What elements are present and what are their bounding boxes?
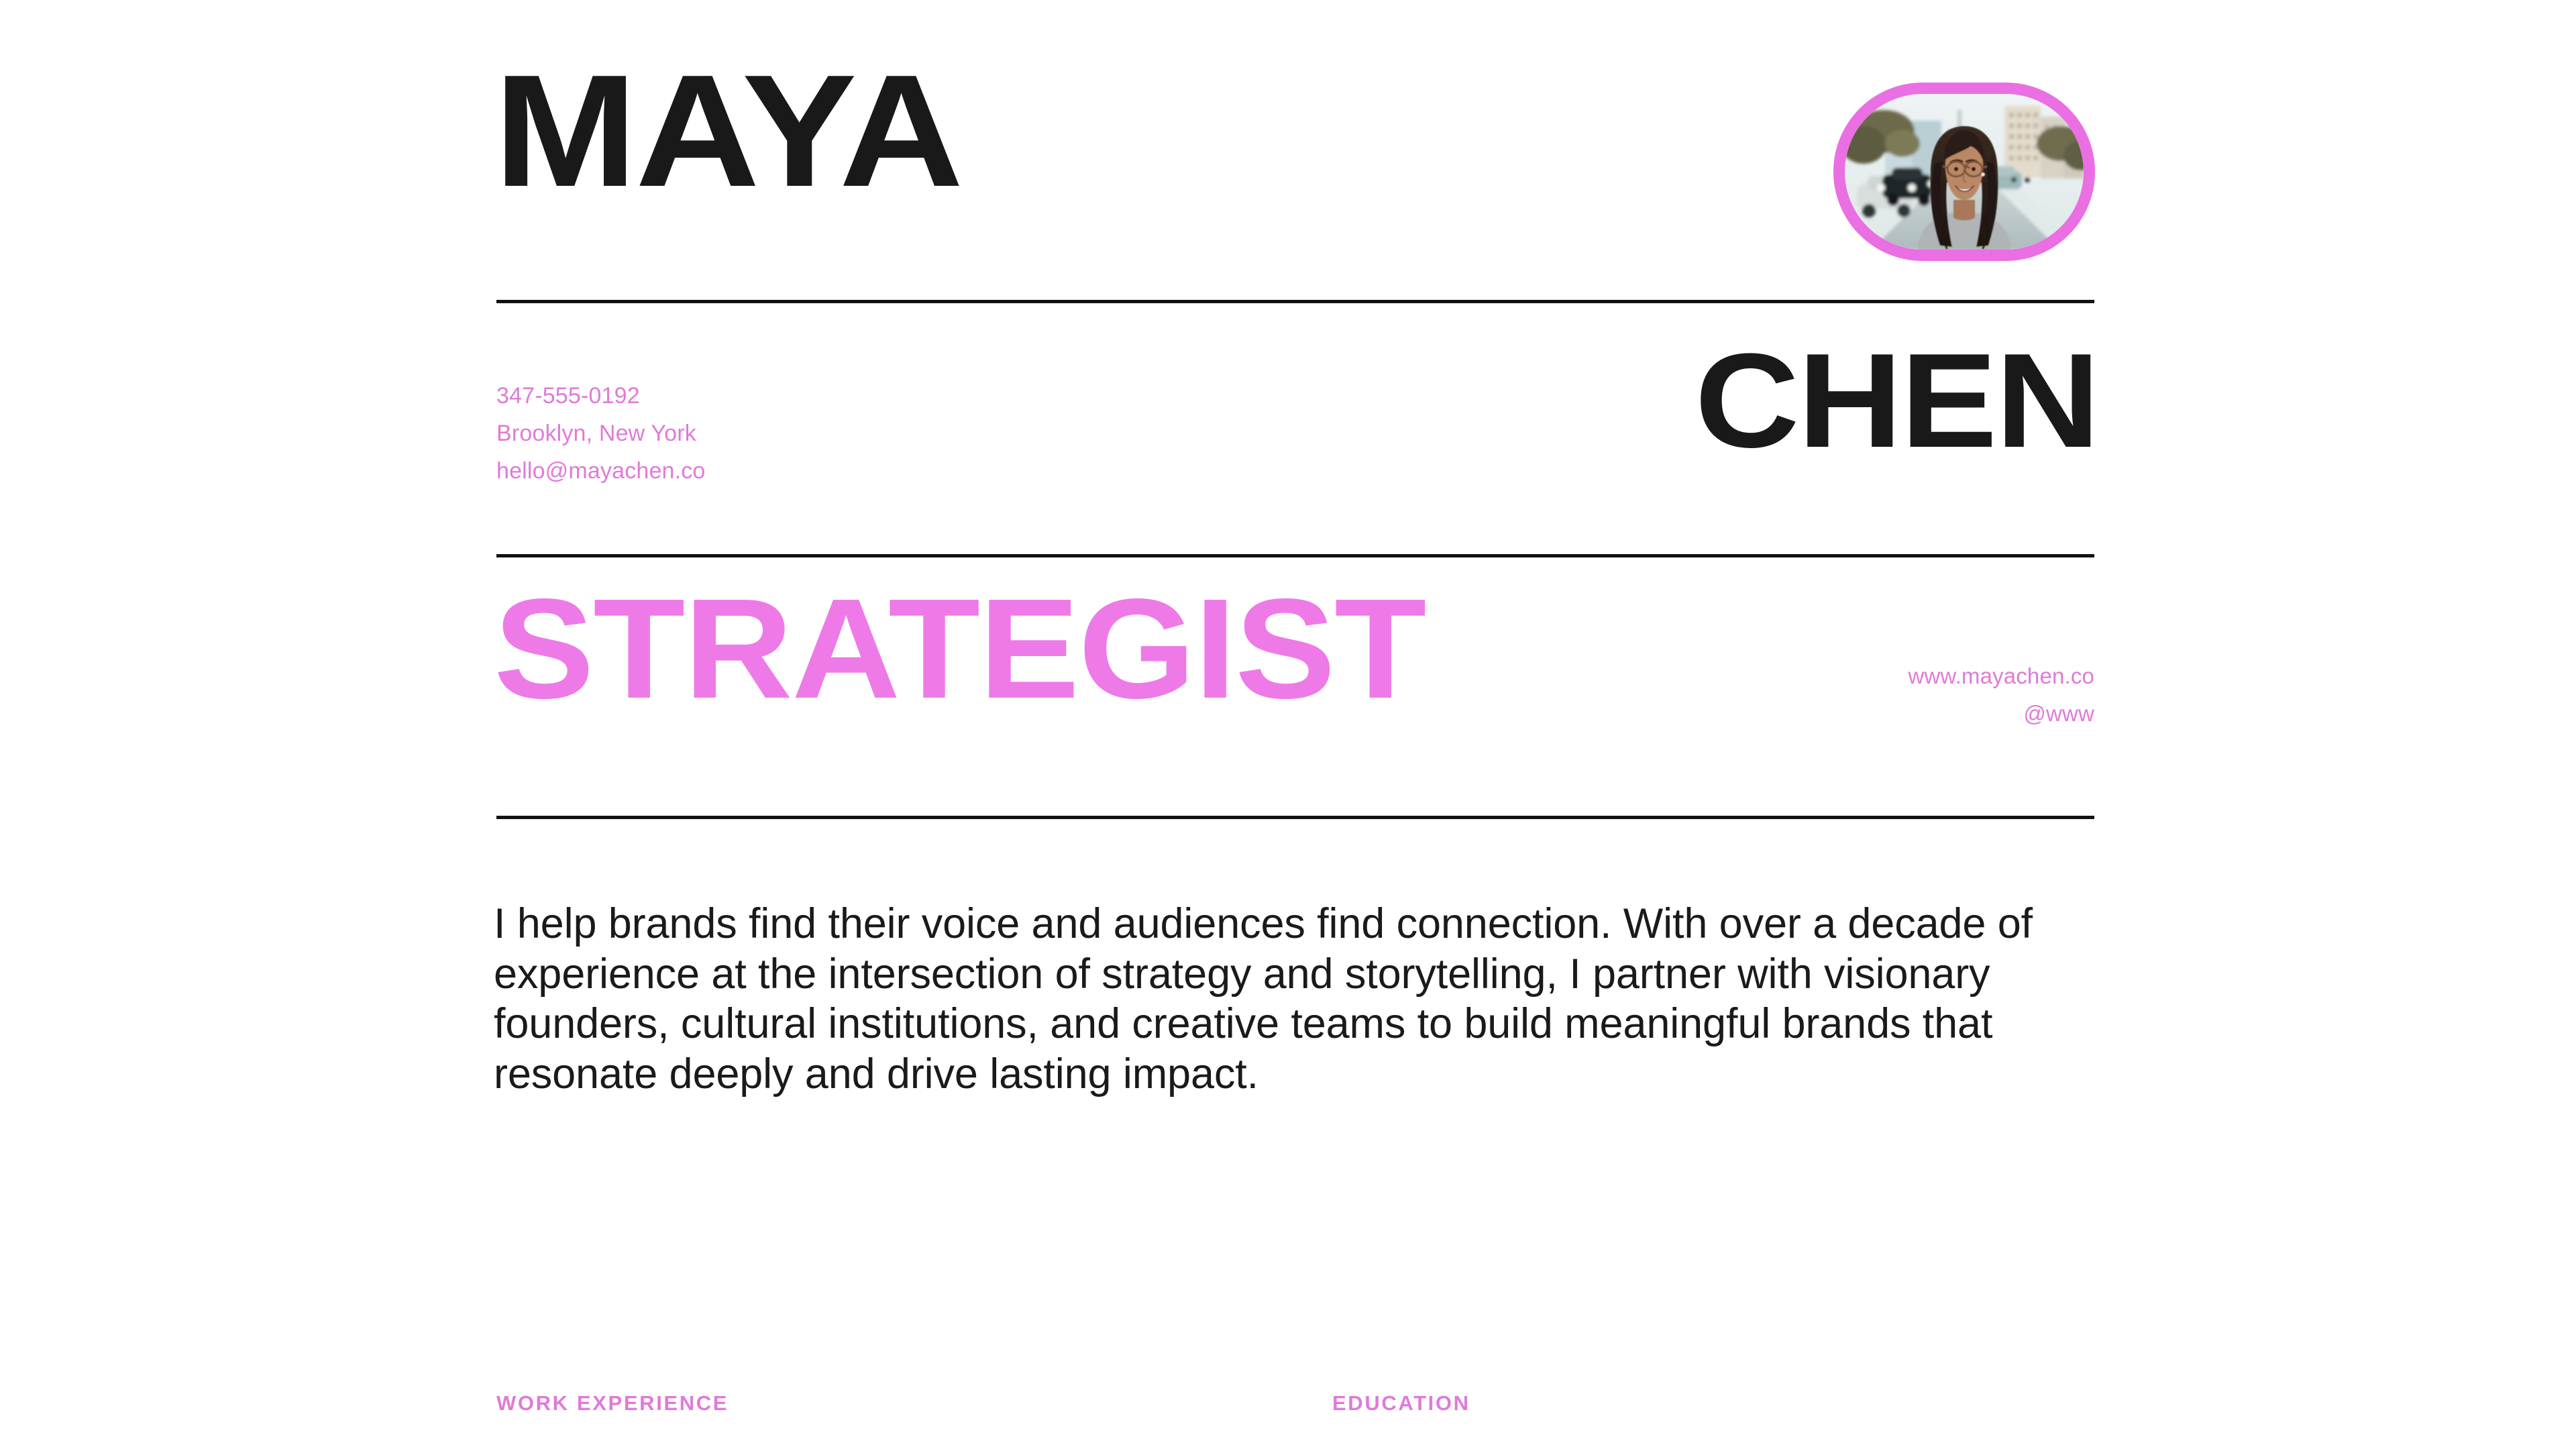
section-heading-work-experience: WORK EXPERIENCE — [496, 1391, 729, 1415]
contact-location: Brooklyn, New York — [496, 415, 705, 452]
contact-block: 347-555-0192 Brooklyn, New York hello@ma… — [496, 377, 705, 490]
avatar — [1833, 83, 2095, 261]
website-link[interactable]: www.mayachen.co — [1908, 657, 2094, 695]
social-handle[interactable]: @www — [2023, 695, 2094, 733]
summary-paragraph: I help brands find their voice and audie… — [494, 899, 2097, 1099]
resume-page: MAYA — [0, 0, 2576, 1449]
section-heading-education: EDUCATION — [1332, 1391, 1470, 1415]
divider-1 — [496, 300, 2094, 303]
divider-3 — [496, 816, 2094, 819]
contact-email[interactable]: hello@mayachen.co — [496, 452, 705, 490]
contact-phone[interactable]: 347-555-0192 — [496, 377, 705, 415]
divider-2 — [496, 554, 2094, 557]
page-title-last-name: CHEN — [1695, 346, 2098, 456]
role-headline: STRATEGIST — [494, 590, 1426, 707]
weblinks-block: www.mayachen.co @www — [1908, 657, 2094, 733]
avatar-photo — [1845, 94, 2084, 250]
page-title-first-name: MAYA — [494, 66, 961, 197]
